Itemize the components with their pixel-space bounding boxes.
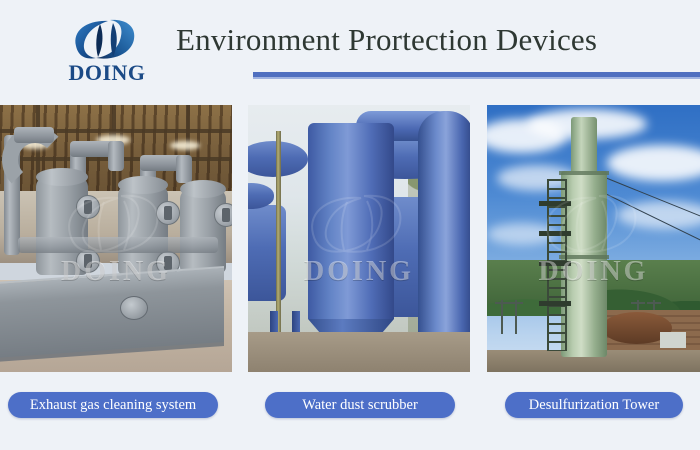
photo-desulfurization-tower — [487, 105, 700, 372]
gallery-image-exhaust-gas-cleaning-system[interactable]: DOING — [0, 105, 232, 372]
gallery-image-desulfurization-tower[interactable]: DOING — [487, 105, 700, 372]
caption-row: Exhaust gas cleaning system Water dust s… — [0, 372, 700, 450]
brand-logo[interactable]: DOING — [58, 16, 156, 90]
image-gallery: DOING — [0, 105, 700, 372]
caption-desulfurization-tower[interactable]: Desulfurization Tower — [505, 392, 683, 418]
page-header: DOING Environment Prortection Devices — [0, 0, 700, 105]
caption-water-dust-scrubber[interactable]: Water dust scrubber — [265, 392, 455, 418]
logo-wordmark: DOING — [58, 60, 156, 86]
doing-swoosh-icon — [66, 16, 150, 64]
photo-exhaust-gas-cleaning-system — [0, 105, 232, 372]
title-underline — [253, 72, 700, 79]
page-title: Environment Prortection Devices — [176, 22, 597, 58]
gallery-image-water-dust-scrubber[interactable]: DOING — [248, 105, 470, 372]
photo-water-dust-scrubber — [248, 105, 470, 372]
caption-exhaust-gas-cleaning-system[interactable]: Exhaust gas cleaning system — [8, 392, 218, 418]
